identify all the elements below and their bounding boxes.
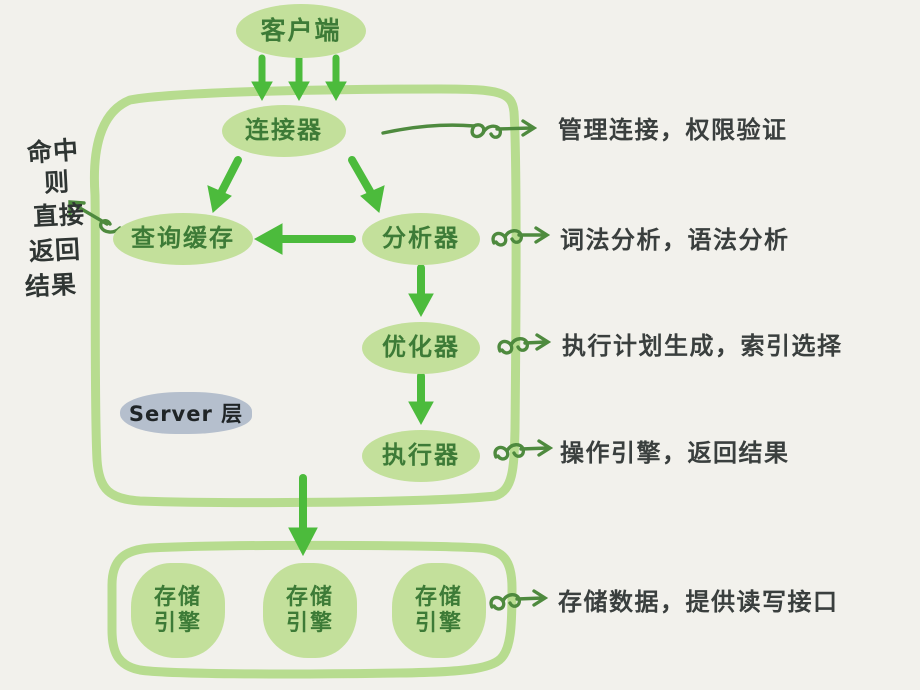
annotation-storage: 存储数据，提供读写接口 [558,582,839,617]
server-layer-badge: Server 层 [120,392,252,434]
sidenote-cache-hit: 命中 则 直接 返回 结果 [16,138,82,299]
node-query-cache[interactable]: 查询缓存 [113,213,253,265]
executor-annotation-squiggle [495,441,550,459]
node-query-cache-label: 查询缓存 [131,225,235,253]
annotation-optimizer: 执行计划生成，索引选择 [562,326,843,361]
annotation-analyzer: 词法分析，语法分析 [560,220,790,255]
sidenote-line-1: 命中 [19,136,87,168]
sidenote-line-3: 直接 [25,200,92,230]
node-storage-engine-2[interactable]: 存储 引擎 [263,563,357,658]
optimizer-annotation-squiggle [499,335,548,353]
server-layer-label: Server 层 [129,398,243,428]
node-optimizer-label: 优化器 [382,334,460,362]
annotation-connector: 管理连接，权限验证 [558,110,788,145]
node-connector[interactable]: 连接器 [222,105,346,157]
node-client[interactable]: 客户端 [236,4,366,58]
node-storage-engine-2-line2: 引擎 [286,611,334,636]
node-storage-engine-3-line1: 存储 [415,585,463,610]
node-storage-engine-1-line1: 存储 [154,585,202,610]
node-analyzer[interactable]: 分析器 [362,213,480,265]
optimizer-to-executor-arrow [409,376,433,424]
storage-annotation-squiggle [491,591,545,609]
node-optimizer[interactable]: 优化器 [362,322,480,374]
node-storage-engine-3-line2: 引擎 [415,611,463,636]
node-analyzer-label: 分析器 [382,225,460,253]
node-storage-engine-2-line1: 存储 [286,585,334,610]
node-storage-engine-1-line2: 引擎 [154,611,202,636]
connector-to-cache-arrow [208,160,238,212]
sidenote-line-5: 结果 [17,270,84,300]
analyzer-to-optimizer-arrow [409,268,433,316]
diagram-canvas: 客户端 连接器 查询缓存 分析器 优化器 执行器 存储 引擎 存储 引擎 [0,0,920,690]
node-client-label: 客户端 [260,17,341,46]
annotation-executor: 操作引擎，返回结果 [560,433,790,468]
node-storage-engine-3[interactable]: 存储 引擎 [392,563,486,658]
analyzer-to-cache-arrow [255,224,352,254]
node-executor-label: 执行器 [382,442,460,470]
sidenote-line-2: 则 [23,167,90,197]
sidenote-line-4: 返回 [21,235,88,265]
node-executor[interactable]: 执行器 [362,430,480,482]
connector-to-analyzer-arrow [352,160,384,212]
node-connector-label: 连接器 [245,117,323,145]
node-storage-engine-1[interactable]: 存储 引擎 [131,563,225,658]
